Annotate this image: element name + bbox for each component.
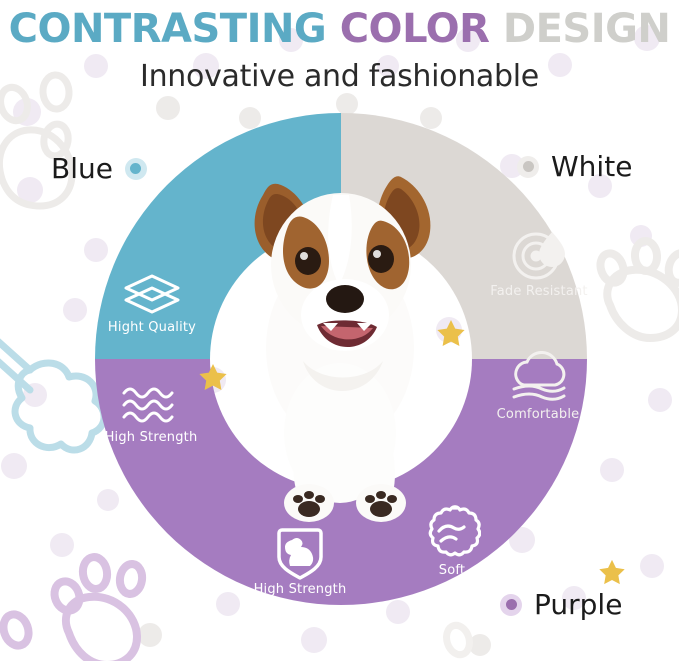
- legend-dot-white: [517, 156, 539, 178]
- legend-label: Purple: [534, 588, 622, 621]
- donut-segment-purple[interactable]: [95, 359, 587, 605]
- legend-dot-blue: [125, 158, 147, 180]
- paw-print-icon: [443, 622, 473, 657]
- page-title: CONTRASTING COLOR DESIGN: [0, 6, 679, 52]
- star-icon: [436, 318, 466, 348]
- paw-print-icon: [597, 240, 679, 338]
- donut-chart: [95, 113, 587, 605]
- legend-blue[interactable]: Blue: [51, 152, 147, 185]
- legend-white[interactable]: White: [517, 150, 632, 183]
- title-part-color: COLOR: [340, 6, 490, 52]
- star-icon: [598, 558, 626, 586]
- donut-segment-blue[interactable]: [95, 113, 341, 359]
- poster-canvas: CONTRASTING COLOR DESIGN Innovative and …: [0, 0, 679, 661]
- title-part-contrasting: CONTRASTING: [9, 6, 327, 52]
- star-icon: [198, 362, 228, 392]
- legend-dot-purple: [500, 594, 522, 616]
- page-subtitle: Innovative and fashionable: [0, 59, 679, 94]
- legend-purple[interactable]: Purple: [500, 588, 622, 621]
- bone-icon: [0, 318, 104, 450]
- legend-label: White: [551, 150, 632, 183]
- title-part-design: DESIGN: [503, 6, 671, 52]
- paw-print-icon: [0, 611, 33, 649]
- legend-label: Blue: [51, 152, 113, 185]
